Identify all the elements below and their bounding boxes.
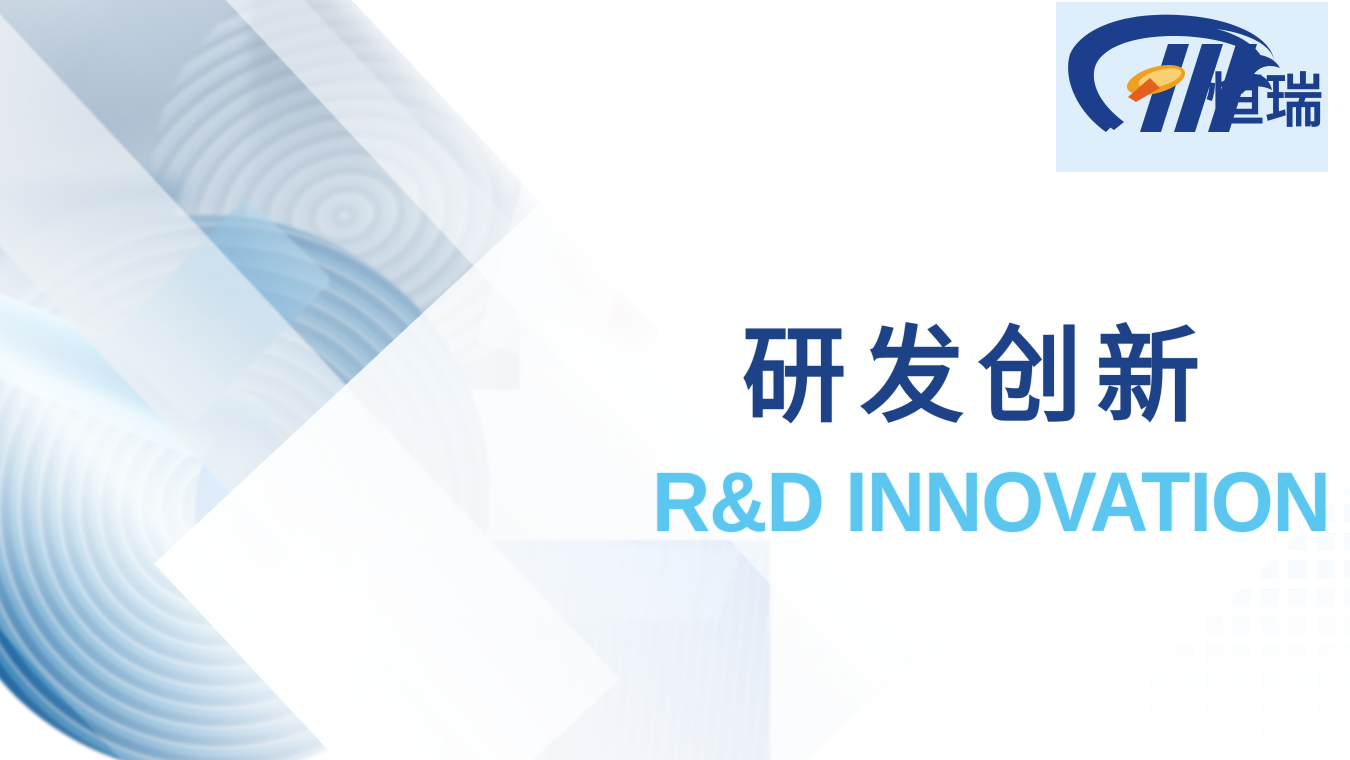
logo-company-name: 恒瑞 [1206,54,1324,138]
rd-innovation-banner: 研发创新 R&D INNOVATION 恒瑞 [0,0,1350,760]
headline-english: R&D INNOVATION [652,460,1330,544]
headline-chinese: 研发创新 [742,324,1214,430]
company-logo[interactable]: 恒瑞 [1056,2,1328,172]
